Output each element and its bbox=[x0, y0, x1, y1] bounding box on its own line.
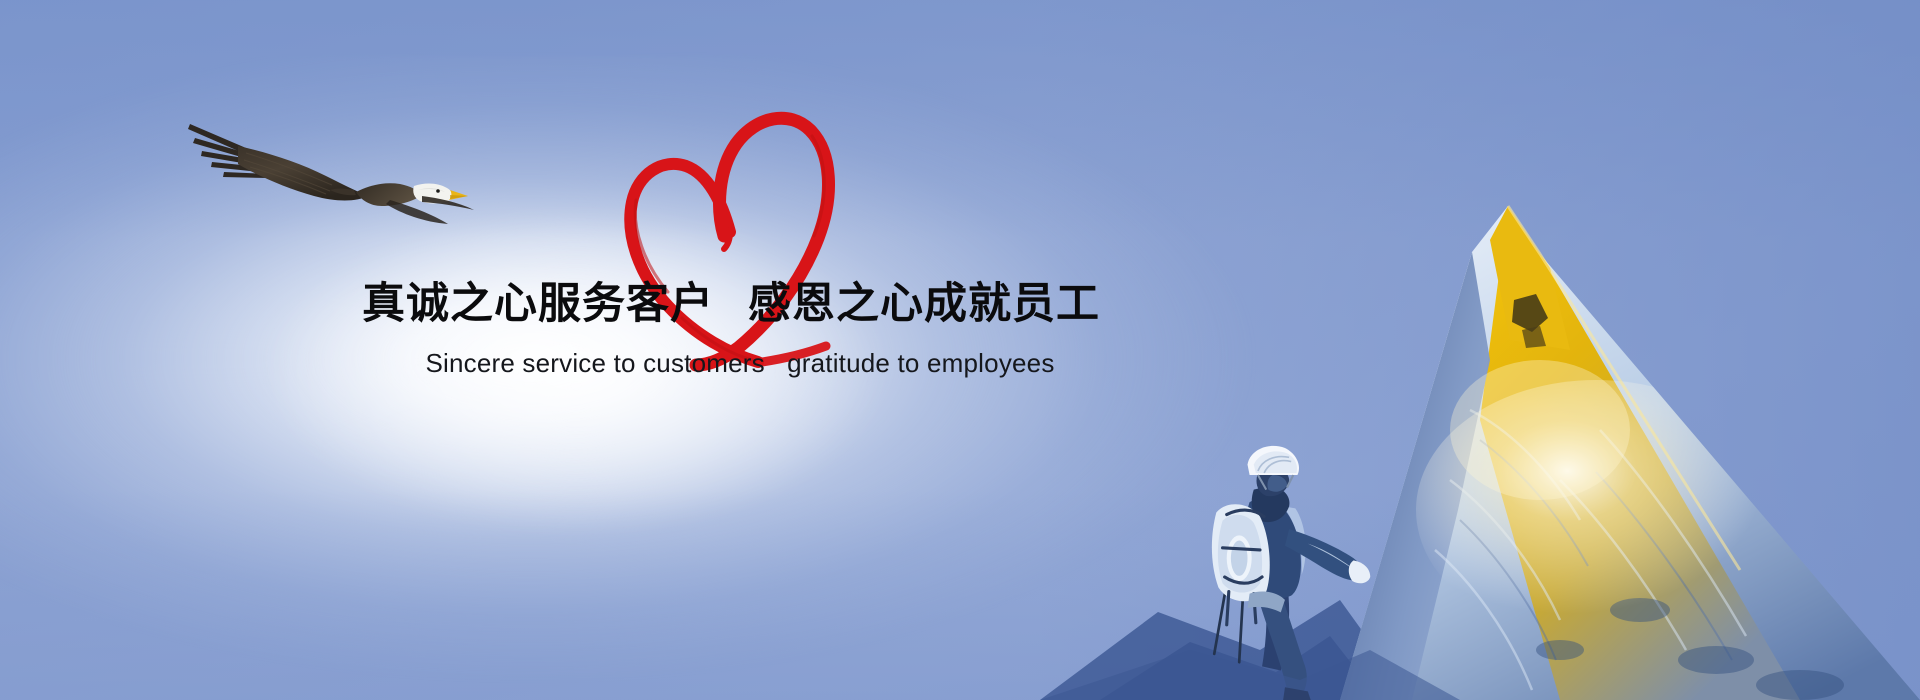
culture-banner: 真诚之心服务客户 感恩之心成就员工 Sincere service to cus… bbox=[0, 0, 1920, 700]
headline-right-text: 感恩之心成就员工 bbox=[748, 283, 1100, 326]
eagle-icon bbox=[186, 96, 476, 222]
subheadline: Sincere service to customers gratitude t… bbox=[360, 348, 1120, 379]
headline: 真诚之心服务客户 感恩之心成就员工 bbox=[360, 276, 1120, 332]
sky-bottom-tint bbox=[0, 490, 1920, 700]
headline-left-text: 真诚之心服务客户 bbox=[362, 283, 714, 326]
